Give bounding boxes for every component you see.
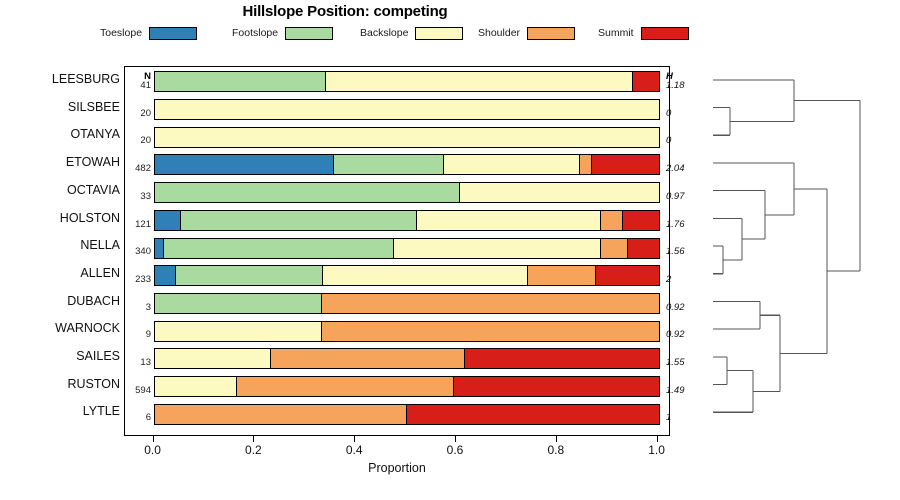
stacked-bar[interactable] — [154, 293, 660, 314]
bar-segment-shoulder[interactable] — [580, 155, 592, 174]
chart-row — [125, 261, 671, 289]
legend-label: Shoulder — [478, 27, 520, 39]
n-value: 121 — [125, 219, 151, 230]
row-label-holston: HOLSTON — [0, 211, 120, 225]
x-axis: 0.00.20.40.60.81.0 — [124, 436, 670, 462]
bar-segment-toeslope[interactable] — [155, 155, 334, 174]
axis-tick — [556, 436, 557, 442]
legend-label: Backslope — [360, 27, 408, 39]
row-label-etowah: ETOWAH — [0, 155, 120, 169]
bar-segment-backslope[interactable] — [444, 155, 580, 174]
stacked-bar[interactable] — [154, 238, 660, 259]
bar-segment-summit[interactable] — [465, 349, 659, 368]
row-label-dubach: DUBACH — [0, 294, 120, 308]
h-value: 0 — [666, 135, 706, 146]
page-title: Hillslope Position: competing — [0, 3, 690, 20]
bar-segment-backslope[interactable] — [155, 349, 271, 368]
bar-segment-backslope[interactable] — [394, 239, 601, 258]
stacked-bar[interactable] — [154, 376, 660, 397]
legend-swatch — [149, 27, 197, 40]
n-value: 3 — [125, 302, 151, 313]
stacked-bar[interactable] — [154, 210, 660, 231]
h-value: 2 — [666, 274, 706, 285]
h-value: 1.49 — [666, 385, 706, 396]
n-value: 33 — [125, 191, 151, 202]
chart-row — [125, 233, 671, 261]
chart-root: Hillslope Position: competing ToeslopeFo… — [0, 0, 900, 500]
bar-segment-footslope[interactable] — [155, 183, 460, 202]
bar-segment-summit[interactable] — [633, 72, 658, 91]
row-label-leesburg: LEESBURG — [0, 72, 120, 86]
bar-segment-footslope[interactable] — [155, 294, 323, 313]
axis-tick-label: 0.0 — [133, 443, 173, 457]
chart-row — [125, 122, 671, 150]
row-label-octavia: OCTAVIA — [0, 183, 120, 197]
n-value: 41 — [125, 80, 151, 91]
axis-tick — [253, 436, 254, 442]
n-value: 233 — [125, 274, 151, 285]
axis-tick-label: 0.2 — [233, 443, 273, 457]
bar-segment-summit[interactable] — [454, 377, 659, 396]
row-label-silsbee: SILSBEE — [0, 100, 120, 114]
bar-segment-footslope[interactable] — [164, 239, 394, 258]
row-label-nella: NELLA — [0, 238, 120, 252]
axis-tick-label: 1.0 — [637, 443, 677, 457]
bar-segment-summit[interactable] — [628, 239, 658, 258]
bar-segment-shoulder[interactable] — [601, 239, 629, 258]
bar-segment-shoulder[interactable] — [601, 211, 624, 230]
bar-segment-toeslope[interactable] — [155, 239, 164, 258]
stacked-bar[interactable] — [154, 404, 660, 425]
axis-tick — [455, 436, 456, 442]
bar-segment-shoulder[interactable] — [528, 266, 596, 285]
row-label-warnock: WARNOCK — [0, 321, 120, 335]
axis-tick — [153, 436, 154, 442]
bar-segment-shoulder[interactable] — [271, 349, 465, 368]
chart-row — [125, 95, 671, 123]
legend-item-shoulder: Shoulder — [478, 24, 575, 42]
legend-swatch — [527, 27, 575, 40]
axis-tick-label: 0.8 — [536, 443, 576, 457]
plot-panel — [124, 66, 670, 436]
chart-row — [125, 316, 671, 344]
bar-segment-backslope[interactable] — [155, 128, 659, 147]
bar-segment-summit[interactable] — [623, 211, 658, 230]
bar-segment-backslope[interactable] — [155, 322, 323, 341]
bar-segment-footslope[interactable] — [334, 155, 445, 174]
bar-segment-backslope[interactable] — [323, 266, 527, 285]
chart-row — [125, 289, 671, 317]
bar-segment-footslope[interactable] — [181, 211, 416, 230]
h-value: 1.76 — [666, 219, 706, 230]
row-label-lytle: LYTLE — [0, 404, 120, 418]
legend-item-summit: Summit — [598, 24, 689, 42]
n-value: 13 — [125, 357, 151, 368]
bar-segment-shoulder[interactable] — [322, 322, 658, 341]
bar-segment-toeslope[interactable] — [155, 211, 182, 230]
n-value: 9 — [125, 329, 151, 340]
stacked-bar[interactable] — [154, 154, 660, 175]
chart-row — [125, 399, 671, 427]
stacked-bar[interactable] — [154, 71, 660, 92]
legend-label: Footslope — [232, 27, 278, 39]
axis-tick — [354, 436, 355, 442]
stacked-bar[interactable] — [154, 99, 660, 120]
h-value: 1 — [666, 412, 706, 423]
legend-item-footslope: Footslope — [232, 24, 333, 42]
h-value: 1.56 — [666, 246, 706, 257]
stacked-bar[interactable] — [154, 321, 660, 342]
n-value: 20 — [125, 135, 151, 146]
bar-segment-backslope[interactable] — [417, 211, 601, 230]
h-value: 2.04 — [666, 163, 706, 174]
bar-segment-footslope[interactable] — [176, 266, 323, 285]
row-label-otanya: OTANYA — [0, 127, 120, 141]
h-value: 0.97 — [666, 191, 706, 202]
stacked-bar[interactable] — [154, 182, 660, 203]
legend: ToeslopeFootslopeBackslopeShoulderSummit — [100, 24, 690, 42]
axis-tick-label: 0.4 — [334, 443, 374, 457]
bar-segment-summit[interactable] — [407, 405, 659, 424]
n-value: 20 — [125, 108, 151, 119]
h-value: 0 — [666, 108, 706, 119]
bar-segment-toeslope[interactable] — [155, 266, 177, 285]
bar-segment-backslope[interactable] — [326, 72, 633, 91]
bar-segment-backslope[interactable] — [460, 183, 659, 202]
chart-row — [125, 206, 671, 234]
stacked-bar[interactable] — [154, 265, 660, 286]
stacked-bar[interactable] — [154, 127, 660, 148]
bar-segment-shoulder[interactable] — [155, 405, 407, 424]
chart-row — [125, 67, 671, 95]
bar-segment-shoulder[interactable] — [322, 294, 658, 313]
n-value: 340 — [125, 246, 151, 257]
bar-segment-shoulder[interactable] — [237, 377, 454, 396]
h-value: 1.18 — [666, 80, 706, 91]
row-label-allen: ALLEN — [0, 266, 120, 280]
row-label-ruston: RUSTON — [0, 377, 120, 391]
axis-tick-label: 0.6 — [435, 443, 475, 457]
stacked-bar[interactable] — [154, 348, 660, 369]
legend-label: Toeslope — [100, 27, 142, 39]
legend-item-backslope: Backslope — [360, 24, 463, 42]
n-value: 482 — [125, 163, 151, 174]
chart-row — [125, 372, 671, 400]
dendrogram — [690, 62, 895, 440]
chart-row — [125, 344, 671, 372]
h-value: 0.92 — [666, 302, 706, 313]
n-value: 6 — [125, 412, 151, 423]
bar-segment-summit[interactable] — [592, 155, 659, 174]
chart-row — [125, 150, 671, 178]
row-label-sailes: SAILES — [0, 349, 120, 363]
axis-tick — [657, 436, 658, 442]
legend-swatch — [285, 27, 333, 40]
bar-segment-backslope[interactable] — [155, 100, 659, 119]
chart-row — [125, 178, 671, 206]
bar-segment-footslope[interactable] — [155, 72, 326, 91]
h-value: 1.55 — [666, 357, 706, 368]
bar-segment-summit[interactable] — [596, 266, 659, 285]
bar-segment-backslope[interactable] — [155, 377, 237, 396]
legend-item-toeslope: Toeslope — [100, 24, 197, 42]
legend-swatch — [641, 27, 689, 40]
h-value: 0.92 — [666, 329, 706, 340]
n-value: 594 — [125, 385, 151, 396]
legend-swatch — [415, 27, 463, 40]
legend-label: Summit — [598, 27, 634, 39]
dendrogram-svg — [690, 62, 895, 440]
x-axis-label: Proportion — [124, 461, 670, 475]
